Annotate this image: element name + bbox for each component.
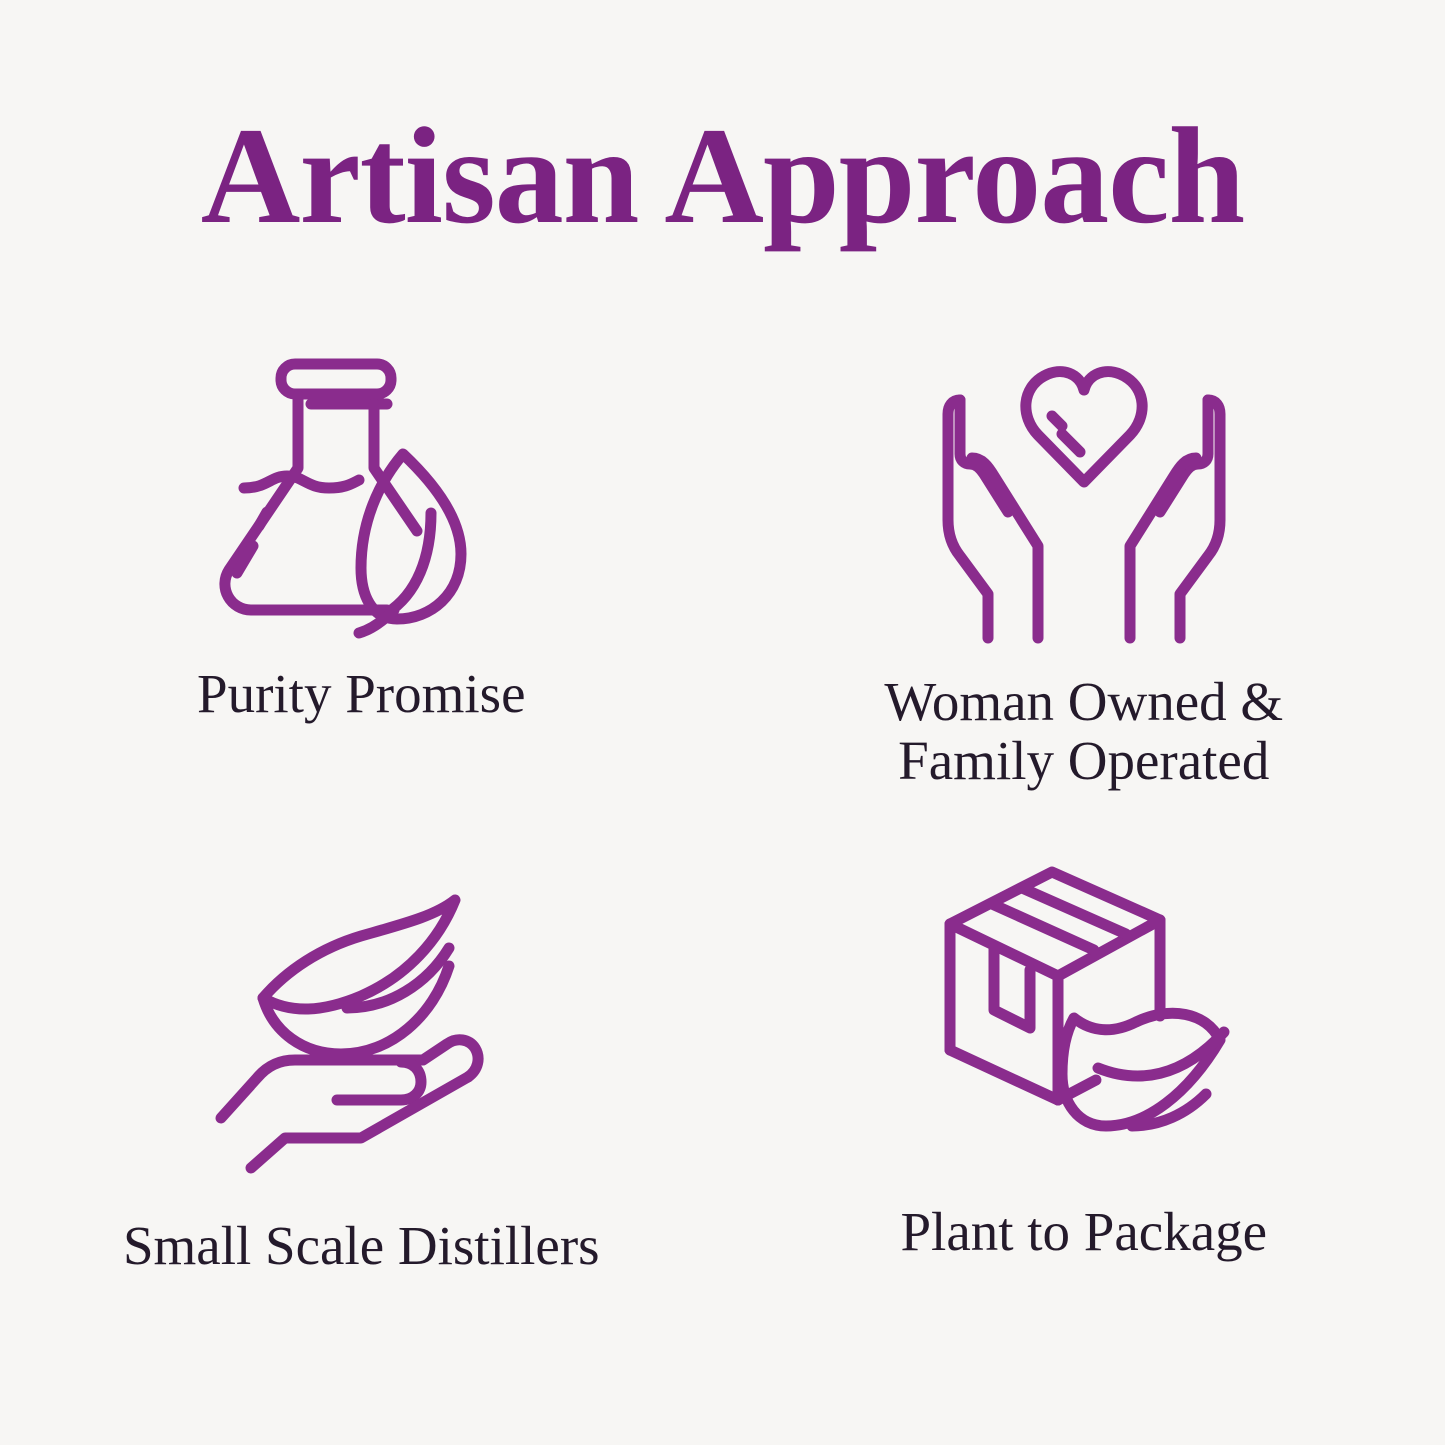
box-leaf-icon — [934, 862, 1234, 1162]
feature-grid: Purity Promise — [0, 330, 1445, 1370]
feature-item-small-scale-distillers: Small Scale Distillers — [0, 850, 723, 1370]
hand-holding-leaf-icon — [211, 874, 511, 1174]
page-title: Artisan Approach — [0, 104, 1445, 249]
hands-holding-heart-icon — [934, 350, 1234, 650]
feature-label: Plant to Package — [900, 1202, 1267, 1261]
feature-label: Small Scale Distillers — [123, 1216, 600, 1275]
feature-item-purity-promise: Purity Promise — [0, 330, 723, 850]
feature-item-plant-to-package: Plant to Package — [723, 850, 1445, 1370]
feature-item-woman-owned: Woman Owned & Family Operated — [723, 330, 1445, 850]
feature-label: Woman Owned & Family Operated — [884, 672, 1283, 791]
artisan-approach-graphic: Artisan Approach — [0, 0, 1445, 1445]
flask-leaf-icon — [211, 342, 511, 642]
feature-label: Purity Promise — [197, 664, 526, 723]
